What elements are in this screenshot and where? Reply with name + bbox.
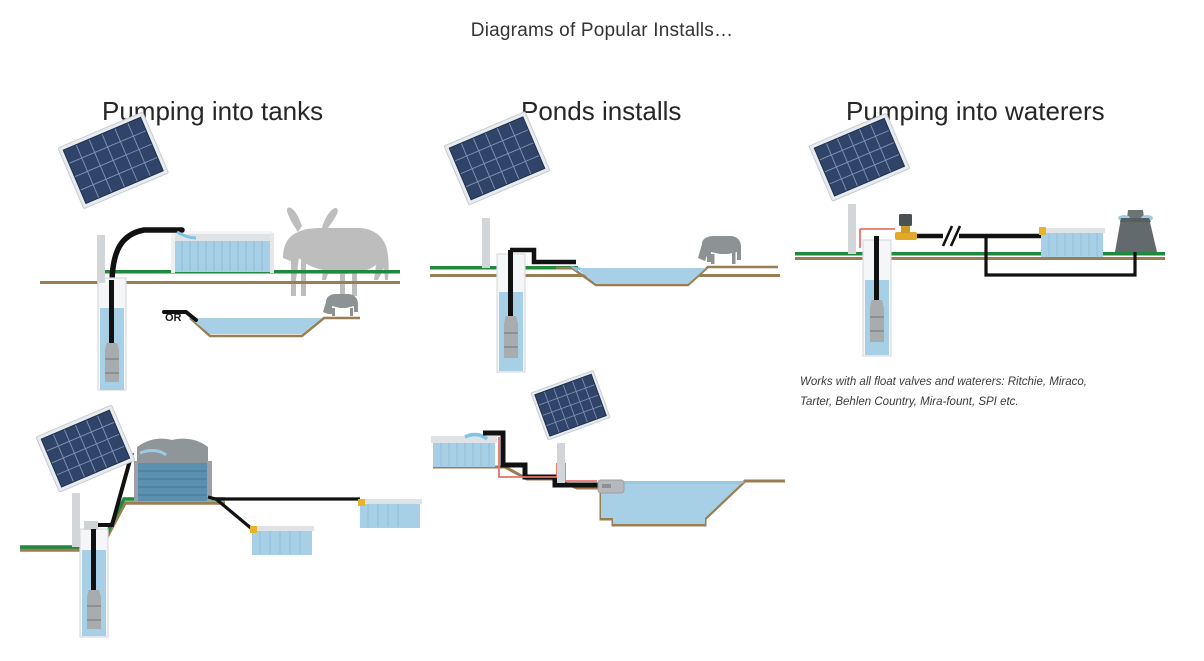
water-tank xyxy=(431,435,497,467)
drop-pipe xyxy=(91,529,96,591)
junction-box xyxy=(899,214,912,226)
float-valve-icon xyxy=(1039,227,1046,235)
solar-pole xyxy=(848,204,856,254)
solar-panel xyxy=(444,112,550,268)
solar-panel xyxy=(531,370,610,483)
compatibility-note: Works with all float valves and waterers… xyxy=(800,372,1120,412)
diagram-pumping-into-waterers xyxy=(795,140,1165,380)
branch-pipe-lower-trough xyxy=(216,499,252,529)
solar-pole xyxy=(72,493,80,547)
power-wire xyxy=(499,437,557,477)
pond-pump xyxy=(598,480,624,493)
drinking-cow-icon xyxy=(323,294,358,316)
hill-soil xyxy=(20,503,225,550)
soil-line xyxy=(795,257,1165,260)
submersible-pump xyxy=(504,316,518,358)
solar-pole xyxy=(482,218,490,268)
drop-pipe xyxy=(874,236,879,302)
power-wire-to-pump xyxy=(565,463,597,481)
grazing-cow-icon xyxy=(698,236,741,264)
submersible-pump xyxy=(105,343,119,382)
submersible-pump xyxy=(870,300,884,342)
page-title: Diagrams of Popular Installs… xyxy=(0,20,1204,42)
drop-pipe xyxy=(109,280,114,345)
solar-pole xyxy=(97,235,105,283)
solar-pole xyxy=(557,443,565,483)
pitless-adapter xyxy=(895,226,917,240)
diagram-pond-source-to-tank xyxy=(405,385,785,555)
drop-pipe xyxy=(508,250,513,318)
pipe-break-marks-icon xyxy=(943,226,960,246)
diagram-pumping-to-storage-tank xyxy=(20,425,400,645)
float-valve-icon xyxy=(250,526,257,533)
tank-to-troughs-pipe xyxy=(208,497,360,499)
float-valve-icon xyxy=(358,499,365,506)
soil-line xyxy=(40,281,400,284)
submersible-pump xyxy=(87,590,101,629)
column-heading-ponds: Ponds installs xyxy=(521,96,681,127)
diagram-well-pumping-into-pond xyxy=(430,140,780,390)
or-label: OR xyxy=(165,312,182,324)
storage-tank xyxy=(134,439,212,501)
trough-lower xyxy=(250,526,314,555)
pond-alternative xyxy=(164,294,360,336)
automatic-waterer xyxy=(1115,210,1157,252)
trough-with-float-valve xyxy=(1039,227,1105,257)
diagram-pumping-into-tank xyxy=(40,140,400,390)
